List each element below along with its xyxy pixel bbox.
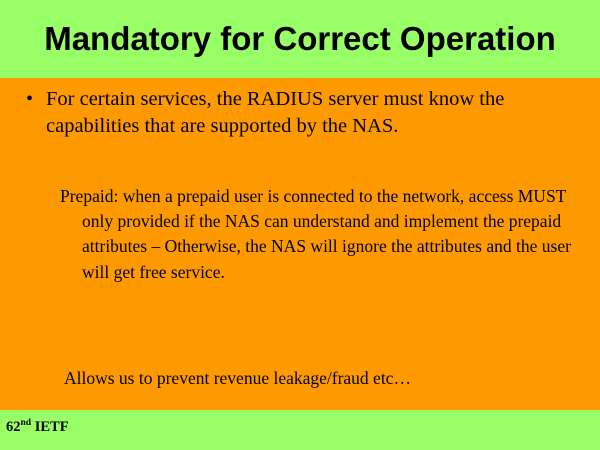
bullet-level2-text-secondary: Allows us to prevent revenue leakage/fra… [64, 368, 411, 388]
bullet-level1-text: For certain services, the RADIUS server … [46, 86, 581, 140]
footer-event: IETF [31, 419, 68, 435]
slide: Mandatory for Correct Operation • For ce… [0, 0, 600, 450]
slide-body: • For certain services, the RADIUS serve… [0, 78, 600, 410]
footer-ordinal: nd [21, 418, 32, 428]
bullet-level2-text: Prepaid: when a prepaid user is connecte… [60, 184, 580, 285]
bullet-dot-icon: • [26, 86, 46, 112]
footer-label: 62nd IETF [6, 418, 69, 436]
bullet-item-level2-prepaid: Prepaid: when a prepaid user is connecte… [60, 184, 580, 285]
bullet-item-level2-allows: Allows us to prevent revenue leakage/fra… [60, 366, 584, 391]
slide-title-bar: Mandatory for Correct Operation [0, 0, 600, 78]
slide-footer-bar: 62nd IETF [0, 410, 600, 450]
footer-number: 62 [6, 419, 21, 435]
bullet-item-level1: • For certain services, the RADIUS serve… [26, 86, 581, 140]
page-title: Mandatory for Correct Operation [44, 22, 556, 57]
